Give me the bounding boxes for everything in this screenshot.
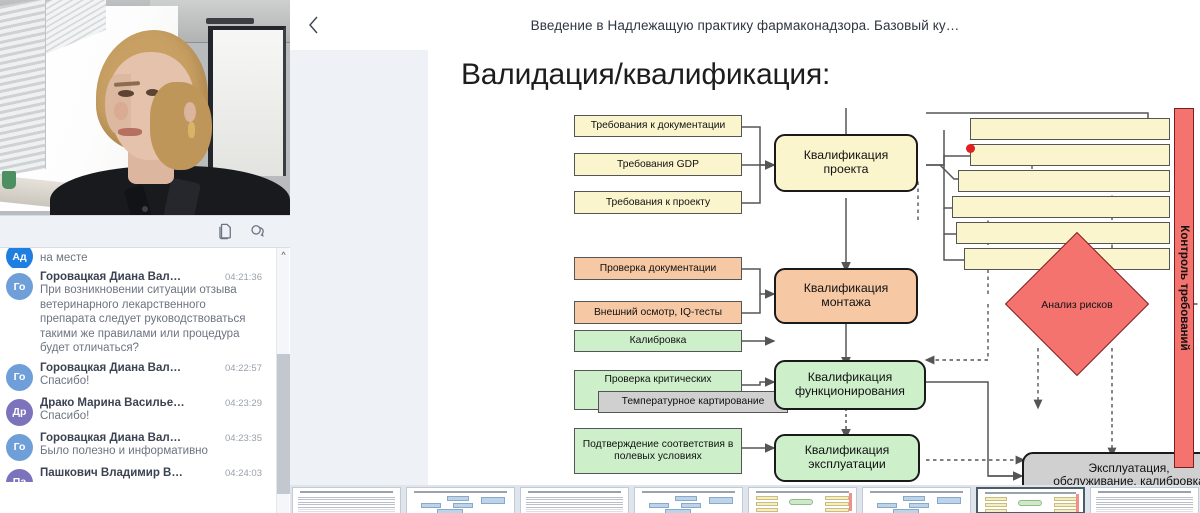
thumbnail-text-line: [526, 507, 623, 508]
input-box: Проверка документации: [574, 257, 742, 280]
slide-title: Валидация/квалификация:: [461, 58, 830, 92]
thumbnail-text-line: [298, 504, 395, 505]
slide-thumbnail-strip[interactable]: [290, 485, 1200, 513]
thumbnail-accent-bar: [1076, 494, 1079, 512]
chat-message: ГоГоровацкая Диана Вал…04:21:36При возни…: [0, 268, 290, 359]
thumbnail-shape: [825, 502, 849, 506]
thumbnail-title-line: [300, 491, 393, 493]
video-toolbar: [0, 215, 290, 248]
thumbnail-text-line: [298, 499, 395, 500]
thumbnail-shape: [453, 503, 473, 508]
thumbnail-text-line: [526, 511, 623, 512]
slide-thumbnail[interactable]: [748, 487, 857, 513]
marker-dot: [966, 144, 975, 153]
thumbnail-shape: [877, 503, 897, 508]
chat-author-name: Драко Марина Василье…: [40, 397, 185, 409]
current-slide[interactable]: Валидация/квалификация:: [428, 50, 1200, 485]
chat-scrollbar[interactable]: ^: [276, 248, 289, 513]
input-box: Требования к документации: [574, 115, 742, 137]
output-box: [970, 144, 1170, 166]
thumbnail-shape: [985, 509, 1007, 513]
thumbnail-shape: [985, 497, 1007, 501]
chat-author-name: Горовацкая Диана Вал…: [40, 432, 181, 444]
thumbnail-text-line: [298, 507, 395, 508]
output-box: [970, 118, 1170, 140]
chat-message: ГоГоровацкая Диана Вал…04:23:35Было поле…: [0, 429, 290, 464]
validation-qualification-diagram: Требования к документации Требования GDP…: [428, 108, 1200, 485]
thumbnail-text-line: [298, 497, 395, 498]
mouth: [118, 128, 142, 136]
thumbnail-shape: [437, 509, 463, 513]
chat-message: ГоГоровацкая Диана Вал…04:22:57Спасибо!: [0, 359, 290, 394]
risk-analysis-decision: Анализ рисков: [974, 274, 1180, 336]
chat-message-header: Драко Марина Василье…04:23:29: [40, 397, 278, 409]
chat-message-body: Горовацкая Диана Вал…04:23:35Было полезн…: [40, 432, 278, 461]
thumbnail-shape: [756, 508, 778, 512]
thumbnail-text-line: [1096, 507, 1193, 508]
thumbnail-title-line: [756, 491, 849, 493]
thumbnail-shape: [825, 508, 849, 512]
thumbnail-shape: [421, 503, 441, 508]
thumbnail-text-line: [526, 504, 623, 505]
thumbnail-shape: [789, 499, 813, 505]
hair-back: [150, 82, 212, 170]
chat-author-name: Горовацкая Диана Вал…: [40, 362, 181, 374]
input-box: Подтверждение соответствия в полевых усл…: [574, 428, 742, 474]
chat-timestamp: 04:22:57: [225, 363, 278, 374]
thumbnail-title-line: [642, 491, 735, 493]
nose: [114, 102, 128, 120]
input-box: Калибровка: [574, 330, 742, 352]
input-box: Требования GDP: [574, 153, 742, 176]
thumbnail-shape: [681, 503, 701, 508]
stage-box: Квалификация проекта: [774, 134, 918, 192]
left-panel: Адна местеГоГоровацкая Диана Вал…04:21:3…: [0, 0, 290, 513]
chat-message-list[interactable]: Адна местеГоГоровацкая Диана Вал…04:21:3…: [0, 248, 290, 513]
thumbnail-shape: [665, 509, 691, 513]
requirements-control-label: Контроль требований: [1178, 225, 1190, 350]
slide-thumbnail[interactable]: [406, 487, 515, 513]
chat-message-text: При возникновении ситуации отзыва ветери…: [40, 283, 278, 356]
chat-message-text: на месте: [40, 251, 278, 266]
thumbnail-title-line: [528, 491, 621, 493]
window-blinds: [0, 0, 46, 176]
projector-rail: [206, 18, 254, 24]
chat-message: ДрДрако Марина Василье…04:23:29Спасибо!: [0, 394, 290, 429]
thumbnail-shape: [903, 496, 925, 501]
thumbnail-shape: [825, 496, 849, 500]
slide-thumbnail[interactable]: [520, 487, 629, 513]
thumbnail-shape: [985, 503, 1007, 507]
output-box: [956, 222, 1170, 244]
stage-box: Квалификация функционирования: [774, 360, 926, 410]
green-cup: [2, 171, 16, 189]
thumbnail-text-line: [1096, 511, 1193, 512]
output-box: [952, 196, 1170, 218]
top-bar: Введение в Надлежащую практику фармакона…: [290, 0, 1200, 50]
thumbnail-shape: [893, 509, 919, 513]
input-box: Требования к проекту: [574, 191, 742, 214]
input-box: Внешний осмотр, IQ-тесты: [574, 301, 742, 324]
chat-message-body: Пашкович Владимир В…04:24:03: [40, 467, 278, 479]
thumbnail-shape: [649, 503, 669, 508]
thumbnail-shape: [1018, 500, 1042, 506]
thumbnail-text-line: [298, 509, 395, 510]
chat-message-header: Пашкович Владимир В…04:24:03: [40, 467, 278, 479]
chevron-up-icon[interactable]: ^: [277, 248, 290, 262]
output-box: [958, 170, 1170, 192]
scrollbar-thumb[interactable]: [277, 354, 290, 494]
thumbnail-text-line: [1096, 497, 1193, 498]
avatar: Го: [6, 273, 33, 300]
chat-message-header: Горовацкая Диана Вал…04:22:57: [40, 362, 278, 374]
stage-box: Квалификация монтажа: [774, 268, 918, 324]
chat-timestamp: 04:23:35: [225, 433, 278, 444]
thumbnail-text-line: [526, 502, 623, 503]
slide-thumbnail[interactable]: [1090, 487, 1199, 513]
thumbnail-text-line: [526, 499, 623, 500]
meeting-viewer: Адна местеГоГоровацкая Диана Вал…04:21:3…: [0, 0, 1200, 513]
thumbnail-shape: [756, 502, 778, 506]
thumbnail-text-line: [298, 502, 395, 503]
thumbnail-text-line: [526, 497, 623, 498]
chat-message: ПаПашкович Владимир В…04:24:03: [0, 464, 290, 482]
thumbnail-shape: [1054, 497, 1078, 501]
slide-thumbnail[interactable]: [862, 487, 971, 513]
thumbnail-title-line: [414, 491, 507, 493]
chat-author-name: Пашкович Владимир В…: [40, 467, 183, 479]
thumbnail-accent-bar: [849, 493, 852, 511]
thumbnail-text-line: [298, 511, 395, 512]
thumbnail-shape: [447, 496, 469, 501]
deck-title: Введение в Надлежащую практику фармакона…: [290, 18, 1200, 33]
thumbnail-shape: [709, 497, 733, 504]
chat-message-text: Спасибо!: [40, 374, 278, 389]
avatar: Ад: [6, 248, 33, 268]
chat-timestamp: 04:23:29: [225, 398, 278, 409]
avatar: Го: [6, 364, 33, 391]
chat-message-header: Горовацкая Диана Вал…04:23:35: [40, 432, 278, 444]
slide-thumbnail[interactable]: [634, 487, 743, 513]
earring: [188, 122, 195, 138]
thumbnail-shape: [1054, 509, 1078, 513]
ear: [184, 102, 196, 122]
requirements-control-bar: Контроль требований: [1174, 108, 1194, 468]
thumbnail-shape: [909, 503, 929, 508]
jacket-button: [142, 206, 148, 212]
chat-message-text: Спасибо!: [40, 409, 278, 424]
presenter-person: [78, 30, 278, 215]
thumbnail-text-line: [1096, 499, 1193, 500]
thumbnail-text-line: [1096, 509, 1193, 510]
avatar: Др: [6, 399, 33, 426]
chat-message-body: на месте: [40, 251, 278, 265]
thumbnail-title-line: [1098, 491, 1191, 493]
slide-stage: Валидация/квалификация:: [290, 50, 1200, 485]
copy-pages-icon[interactable]: [216, 222, 235, 241]
thumbnail-title-line: [870, 491, 963, 493]
thumbnail-text-line: [1096, 504, 1193, 505]
decision-label: Анализ рисков: [974, 274, 1180, 336]
chat-bubbles-icon[interactable]: [249, 222, 268, 241]
thumbnail-shape: [756, 496, 778, 500]
chat-message-body: Драко Марина Василье…04:23:29Спасибо!: [40, 397, 278, 426]
chat-message-body: Горовацкая Диана Вал…04:22:57Спасибо!: [40, 362, 278, 391]
overlay-box: Температурное картирование: [598, 391, 788, 413]
chat-author-name: Горовацкая Диана Вал…: [40, 271, 181, 283]
eye-left: [118, 90, 134, 97]
stage-box: Квалификация эксплуатации: [774, 434, 920, 482]
chat-timestamp: 04:21:36: [225, 272, 278, 283]
slide-thumbnail[interactable]: [292, 487, 401, 513]
chat-message: Адна месте: [0, 248, 290, 268]
avatar: Го: [6, 434, 33, 461]
thumbnail-shape: [481, 497, 505, 504]
thumbnail-text-line: [526, 509, 623, 510]
thumbnail-text-line: [1096, 502, 1193, 503]
thumbnail-shape: [675, 496, 697, 501]
avatar: Па: [6, 469, 33, 482]
thumbnail-shape: [1054, 503, 1078, 507]
chat-message-text: Было полезно и информативно: [40, 444, 278, 459]
chat-message-header: Горовацкая Диана Вал…04:21:36: [40, 271, 278, 283]
thumbnail-title-line: [985, 492, 1076, 494]
slide-thumbnail[interactable]: [976, 487, 1085, 513]
chat-timestamp: 04:24:03: [225, 468, 278, 479]
chat-message-body: Горовацкая Диана Вал…04:21:36При возникн…: [40, 271, 278, 356]
thumbnail-shape: [937, 497, 961, 504]
presenter-video-tile[interactable]: [0, 0, 290, 215]
presentation-pane: Введение в Надлежащую практику фармакона…: [290, 0, 1200, 513]
